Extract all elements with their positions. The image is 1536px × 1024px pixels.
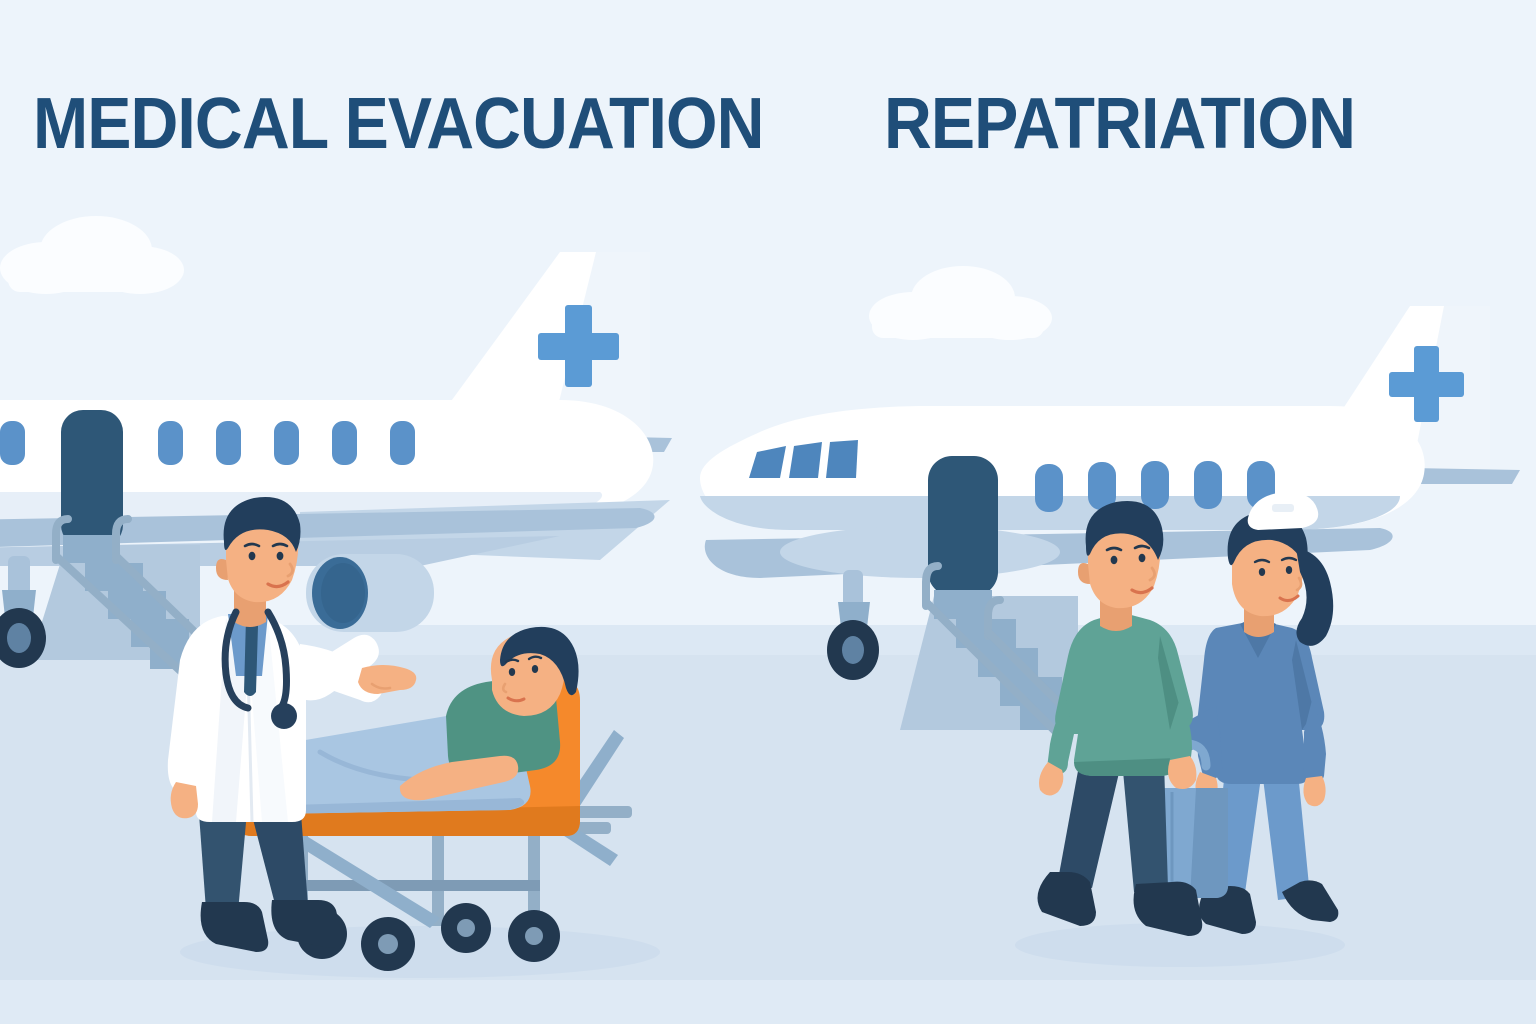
page-title-repatriation: REPATRIATION [884,88,1355,160]
traveller-hand-front [1168,756,1196,789]
repat-boarding-door[interactable] [928,456,998,596]
tarmac-foreground-band [0,980,1536,1024]
doctor-tie [244,618,258,696]
illustration-canvas: MEDICAL EVACUATION REPATRIATION [0,0,1536,1024]
doctor-left-hand [171,782,198,818]
medevac-engine [306,554,434,632]
page-title-medical-evacuation: MEDICAL EVACUATION [33,88,763,160]
nurse-hand-right [1303,776,1325,806]
suitcase-shade [1190,788,1228,898]
repat-wing-highlight [780,526,1060,578]
